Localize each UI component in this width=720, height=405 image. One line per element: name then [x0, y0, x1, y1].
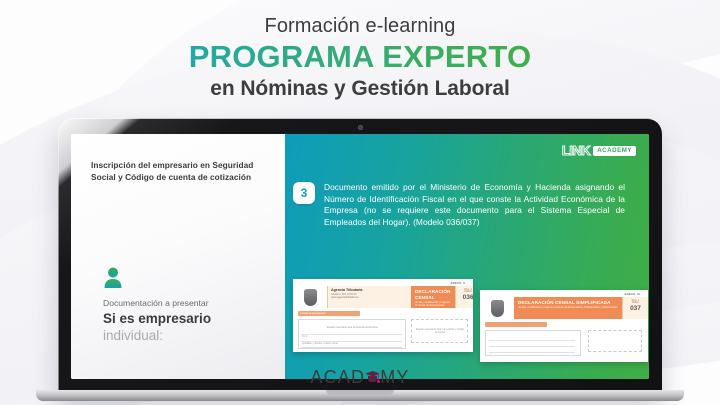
doc-section-bar: [485, 322, 547, 327]
headline-line-2: PROGRAMA EXPERTO: [0, 39, 720, 75]
doc-anexo-label: ANEXO III: [624, 292, 640, 296]
headline-line-3: en Nóminas y Gestión Laboral: [0, 75, 720, 102]
doc-model-block: Pág. 1 Modelo 037: [622, 297, 648, 319]
doc-model-number: 036: [458, 294, 473, 302]
doc-model-block: Pág. 1 Modelo 036: [455, 286, 473, 308]
slide-heading-strong: Si es empresario: [103, 310, 211, 327]
link-academy-logo: LINK ACADEMY: [562, 144, 636, 157]
document-thumbnails: ANEXO III DECLARACIÓN CENSAL SIMPLIFICAD…: [285, 276, 649, 379]
headline-block: Formación e-learning PROGRAMA EXPERTO en…: [0, 14, 720, 102]
doc-anexo-label: ANEXO II: [450, 281, 465, 285]
document-thumbnail-036: ANEXO II Agencia Tributaria Teléfono: 90…: [293, 279, 473, 352]
doc-field-line: [489, 352, 575, 353]
academy-footer-logo: ACAD MY: [0, 366, 720, 388]
webcam-icon: [358, 125, 363, 130]
doc-title: DECLARACIÓN CENSAL: [415, 289, 451, 301]
doc-field-line: [489, 346, 575, 347]
doc-field-nif: N.I.F.: [302, 335, 308, 338]
coat-of-arms-icon: [480, 297, 514, 319]
doc-dashed-box: [588, 330, 642, 352]
doc-title-block: DECLARACIÓN CENSAL SIMPLIFICADA de alta,…: [514, 297, 622, 319]
doc-header: Agencia Tributaria Teléfono: 901 33 55 3…: [293, 286, 473, 308]
doc-header: DECLARACIÓN CENSAL SIMPLIFICADA de alta,…: [480, 297, 648, 319]
person-icon: [103, 267, 123, 294]
headline-line-1: Formación e-learning: [0, 14, 720, 39]
link-logo-badge: ACADEMY: [593, 146, 636, 156]
laptop-screen: Inscripción del empresario en Seguridad …: [71, 134, 649, 379]
slide-subtitle: Documentación a presentar: [103, 297, 209, 309]
doc-field-name: Apellidos y nombre o razón social: [302, 342, 338, 345]
step-text: Documento emitido por el Ministerio de E…: [324, 182, 625, 228]
doc-subtitle: de alta, modificación y baja en el Censo…: [415, 301, 451, 312]
step-row: 3 Documento emitido por el Ministerio de…: [293, 182, 625, 228]
doc-subtitle: de alta, modificación y baja en el Censo…: [518, 306, 618, 310]
doc-field-note: Espacio reservado para la etiqueta ident…: [327, 326, 378, 329]
step-number-badge: 3: [293, 182, 315, 204]
link-logo-word: LINK: [562, 144, 590, 157]
doc-side-note: Espacio reservado para numeración y códi…: [415, 328, 465, 334]
doc-title-block: DECLARACIÓN CENSAL de alta, modificación…: [411, 286, 455, 308]
doc-field-line: [489, 340, 575, 341]
laptop-notch: [326, 390, 394, 395]
doc-field-line: [301, 334, 402, 335]
slide-title: Inscripción del empresario en Seguridad …: [91, 160, 265, 183]
graduation-cap-icon: [365, 368, 380, 386]
academy-logo-part1: ACAD: [310, 366, 365, 388]
slide-left-panel: Inscripción del empresario en Seguridad …: [71, 134, 285, 379]
coat-of-arms-icon: [293, 286, 327, 308]
document-thumbnail-037: ANEXO III DECLARACIÓN CENSAL SIMPLIFICAD…: [480, 290, 648, 362]
laptop-lid: Inscripción del empresario en Seguridad …: [58, 118, 662, 394]
laptop-mockup: Inscripción del empresario en Seguridad …: [58, 118, 662, 405]
academy-logo-part2: MY: [380, 366, 409, 388]
doc-section-label: Causas de presentación: [300, 312, 326, 315]
slide-heading-muted: individual:: [103, 327, 163, 344]
slide-right-panel: LINK ACADEMY 3 Documento emitido por el …: [285, 134, 649, 379]
doc-agency-web: www.agenciatributaria.es: [331, 296, 408, 299]
doc-field-line: [301, 347, 402, 348]
doc-model-number: 037: [625, 305, 646, 313]
doc-agency-block: Agencia Tributaria Teléfono: 901 33 55 3…: [327, 286, 411, 308]
